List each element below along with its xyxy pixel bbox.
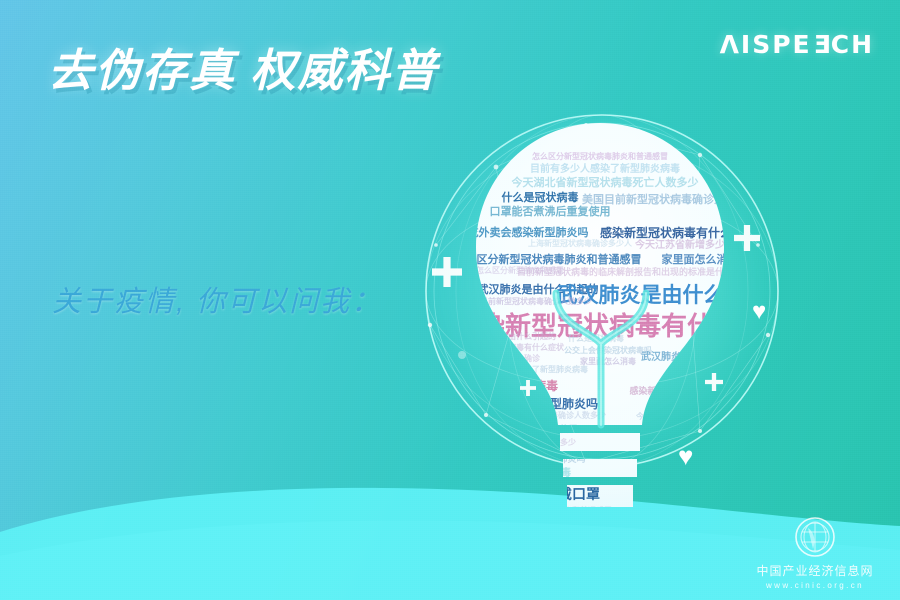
brand-part-1: ΛISPE xyxy=(720,30,812,59)
heart-icon: ♥ xyxy=(678,443,704,469)
filament-icon xyxy=(400,95,800,525)
page-subtitle: 关于疫情, 你可以问我： xyxy=(52,278,382,320)
globe-icon xyxy=(794,516,836,558)
poster-canvas: 去伪存真 权威科普 ΛISPEECH 关于疫情, 你可以问我： xyxy=(0,0,900,600)
cinic-footer-logo: 中国产业经济信息网 www.cinic.org.cn xyxy=(750,516,880,590)
aispeech-logo: ΛISPEECH xyxy=(720,30,874,59)
page-title: 去伪存真 权威科普 xyxy=(48,34,439,99)
heart-icon: ♥ xyxy=(752,300,776,324)
brand-flipped-letter: E xyxy=(812,30,831,59)
brand-part-2: CH xyxy=(831,30,874,59)
footer-logo-name: 中国产业经济信息网 xyxy=(750,562,880,579)
footer-logo-url: www.cinic.org.cn xyxy=(750,581,880,590)
lightbulb-word-cloud-artwork: 怎么区分新型冠状病毒肺炎和普通感冒目前有多少人感染了新型肺炎病毒今天湖北省新型冠… xyxy=(400,95,800,525)
